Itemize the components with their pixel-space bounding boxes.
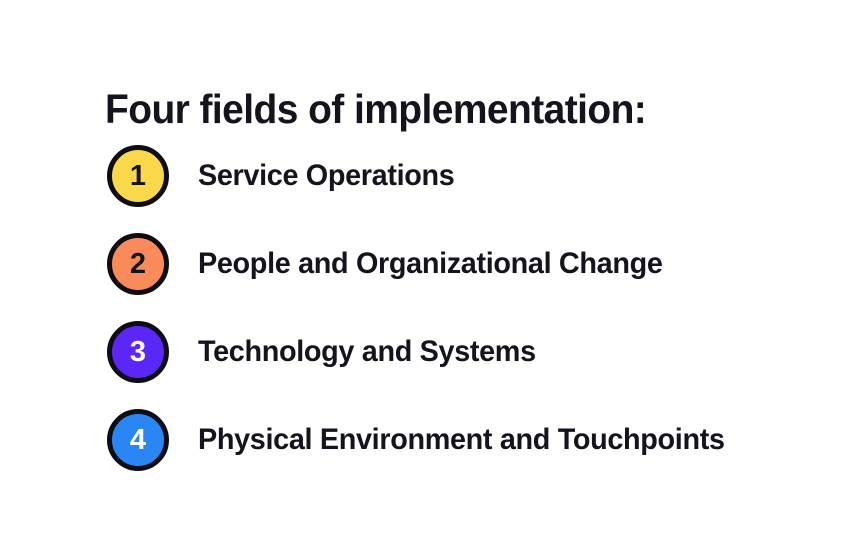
field-label-4: Physical Environment and Touchpoints bbox=[198, 423, 725, 457]
badge-number-label: 3 bbox=[130, 338, 146, 367]
badge-number-label: 1 bbox=[130, 162, 146, 191]
badge-number-label: 2 bbox=[130, 250, 146, 279]
list-item: 4 Physical Environment and Touchpoints bbox=[107, 409, 807, 471]
page-title: Four fields of implementation: bbox=[105, 89, 646, 130]
slide-canvas: Four fields of implementation: 1 Service… bbox=[0, 0, 864, 540]
field-label-1: Service Operations bbox=[198, 159, 454, 193]
fields-list: 1 Service Operations 2 People and Organi… bbox=[107, 145, 807, 471]
field-label-3: Technology and Systems bbox=[198, 335, 536, 369]
field-label-2: People and Organizational Change bbox=[198, 247, 663, 281]
number-badge-4: 4 bbox=[107, 409, 169, 471]
number-badge-2: 2 bbox=[107, 233, 169, 295]
list-item: 3 Technology and Systems bbox=[107, 321, 807, 383]
number-badge-1: 1 bbox=[107, 145, 169, 207]
list-item: 1 Service Operations bbox=[107, 145, 807, 207]
list-item: 2 People and Organizational Change bbox=[107, 233, 807, 295]
badge-number-label: 4 bbox=[130, 426, 146, 455]
number-badge-3: 3 bbox=[107, 321, 169, 383]
